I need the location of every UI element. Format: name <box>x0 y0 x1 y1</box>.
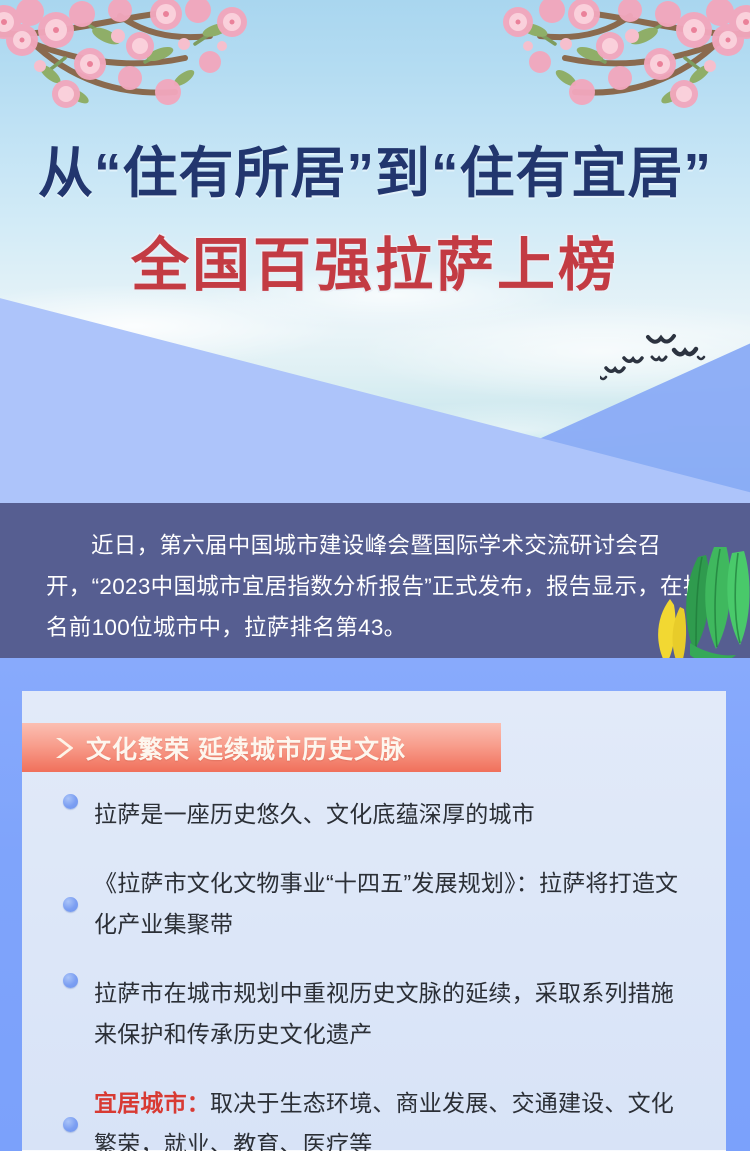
bullet-dot-icon <box>63 897 78 912</box>
list-item-text: 宜居城市：取决于生态环境、商业发展、交通建设、文化繁荣，就业、教育、医疗等 <box>94 1083 694 1151</box>
flying-birds-icon <box>600 325 720 395</box>
hero-title-block: 从“住有所居”到“住有宜居” 全国百强拉萨上榜 <box>0 128 750 302</box>
list-item-text: 拉萨是一座历史悠久、文化底蕴深厚的城市 <box>94 794 535 835</box>
section-header-banner[interactable]: 文化繁荣 延续城市历史文脉 <box>22 723 501 772</box>
chevron-right-icon <box>53 736 73 760</box>
list-item-text: 《拉萨市文化文物事业“十四五”发展规划》：拉萨将打造文化产业集聚带 <box>94 863 694 945</box>
list-item-text: 拉萨市在城市规划中重视历史文脉的延续，采取系列措施来保护和传承历史文化遗产 <box>94 973 694 1055</box>
bullet-list: 拉萨是一座历史悠久、文化底蕴深厚的城市 《拉萨市文化文物事业“十四五”发展规划》… <box>22 794 726 1151</box>
infographic-page: 从“住有所居”到“住有宜居” 全国百强拉萨上榜 近日，第六届中国城市建设峰会暨国… <box>0 0 750 1151</box>
intro-paragraph: 近日，第六届中国城市建设峰会暨国际学术交流研讨会召开，“2023中国城市宜居指数… <box>46 525 718 648</box>
bullet-dot-icon <box>63 794 78 809</box>
page-title-primary: 从“住有所居”到“住有宜居” <box>0 128 750 208</box>
cherry-blossom-branch-icon <box>0 0 390 135</box>
list-item: 《拉萨市文化文物事业“十四五”发展规划》：拉萨将打造文化产业集聚带 <box>22 863 726 945</box>
list-item: 宜居城市：取决于生态环境、商业发展、交通建设、文化繁荣，就业、教育、医疗等 <box>22 1083 726 1151</box>
bullet-dot-icon <box>63 1117 78 1132</box>
list-item-highlight: 宜居城市： <box>94 1090 210 1116</box>
page-title-secondary: 全国百强拉萨上榜 <box>0 218 750 302</box>
list-item: 拉萨是一座历史悠久、文化底蕴深厚的城市 <box>22 794 726 835</box>
bullet-dot-icon <box>63 973 78 988</box>
section-heading-label: 文化繁荣 延续城市历史文脉 <box>86 730 406 766</box>
tropical-leaves-icon <box>640 547 750 658</box>
hero-sky-section: 从“住有所居”到“住有宜居” 全国百强拉萨上榜 <box>0 0 750 503</box>
cherry-blossom-branch-icon <box>360 0 750 135</box>
intro-panel: 近日，第六届中国城市建设峰会暨国际学术交流研讨会召开，“2023中国城市宜居指数… <box>0 503 750 658</box>
list-item: 拉萨市在城市规划中重视历史文脉的延续，采取系列措施来保护和传承历史文化遗产 <box>22 973 726 1055</box>
